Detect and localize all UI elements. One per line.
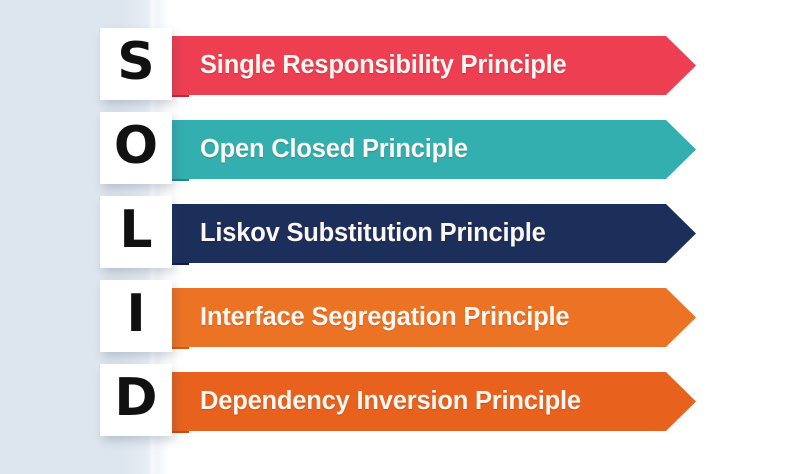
- acronym-letter-card: D: [100, 364, 172, 436]
- principle-banner[interactable]: Open Closed Principle: [170, 120, 696, 179]
- acronym-letter-card: I: [100, 280, 172, 352]
- acronym-letter: I: [126, 288, 145, 344]
- principle-banner[interactable]: Single Responsibility Principle: [170, 36, 696, 95]
- acronym-letter-card: L: [100, 196, 172, 268]
- acronym-letter: S: [117, 36, 154, 92]
- principle-row: Dependency Inversion PrincipleD: [0, 364, 800, 448]
- principle-banner[interactable]: Liskov Substitution Principle: [170, 204, 696, 263]
- principle-label: Open Closed Principle: [170, 135, 468, 164]
- principle-row: Liskov Substitution PrincipleL: [0, 196, 800, 280]
- principle-label: Liskov Substitution Principle: [170, 219, 546, 248]
- acronym-letter: D: [114, 372, 157, 428]
- principle-banner[interactable]: Dependency Inversion Principle: [170, 372, 696, 431]
- acronym-letter-card: S: [100, 28, 172, 100]
- principle-row: Interface Segregation PrincipleI: [0, 280, 800, 364]
- solid-principles-poster: Single Responsibility PrincipleSOpen Clo…: [0, 0, 800, 474]
- principle-row: Open Closed PrincipleO: [0, 112, 800, 196]
- principle-label: Interface Segregation Principle: [170, 303, 569, 332]
- principle-banner[interactable]: Interface Segregation Principle: [170, 288, 696, 347]
- principle-label: Single Responsibility Principle: [170, 51, 566, 80]
- acronym-letter-card: O: [100, 112, 172, 184]
- principle-row: Single Responsibility PrincipleS: [0, 28, 800, 112]
- acronym-letter: L: [119, 204, 152, 260]
- principle-label: Dependency Inversion Principle: [170, 387, 581, 416]
- acronym-letter: O: [114, 120, 158, 176]
